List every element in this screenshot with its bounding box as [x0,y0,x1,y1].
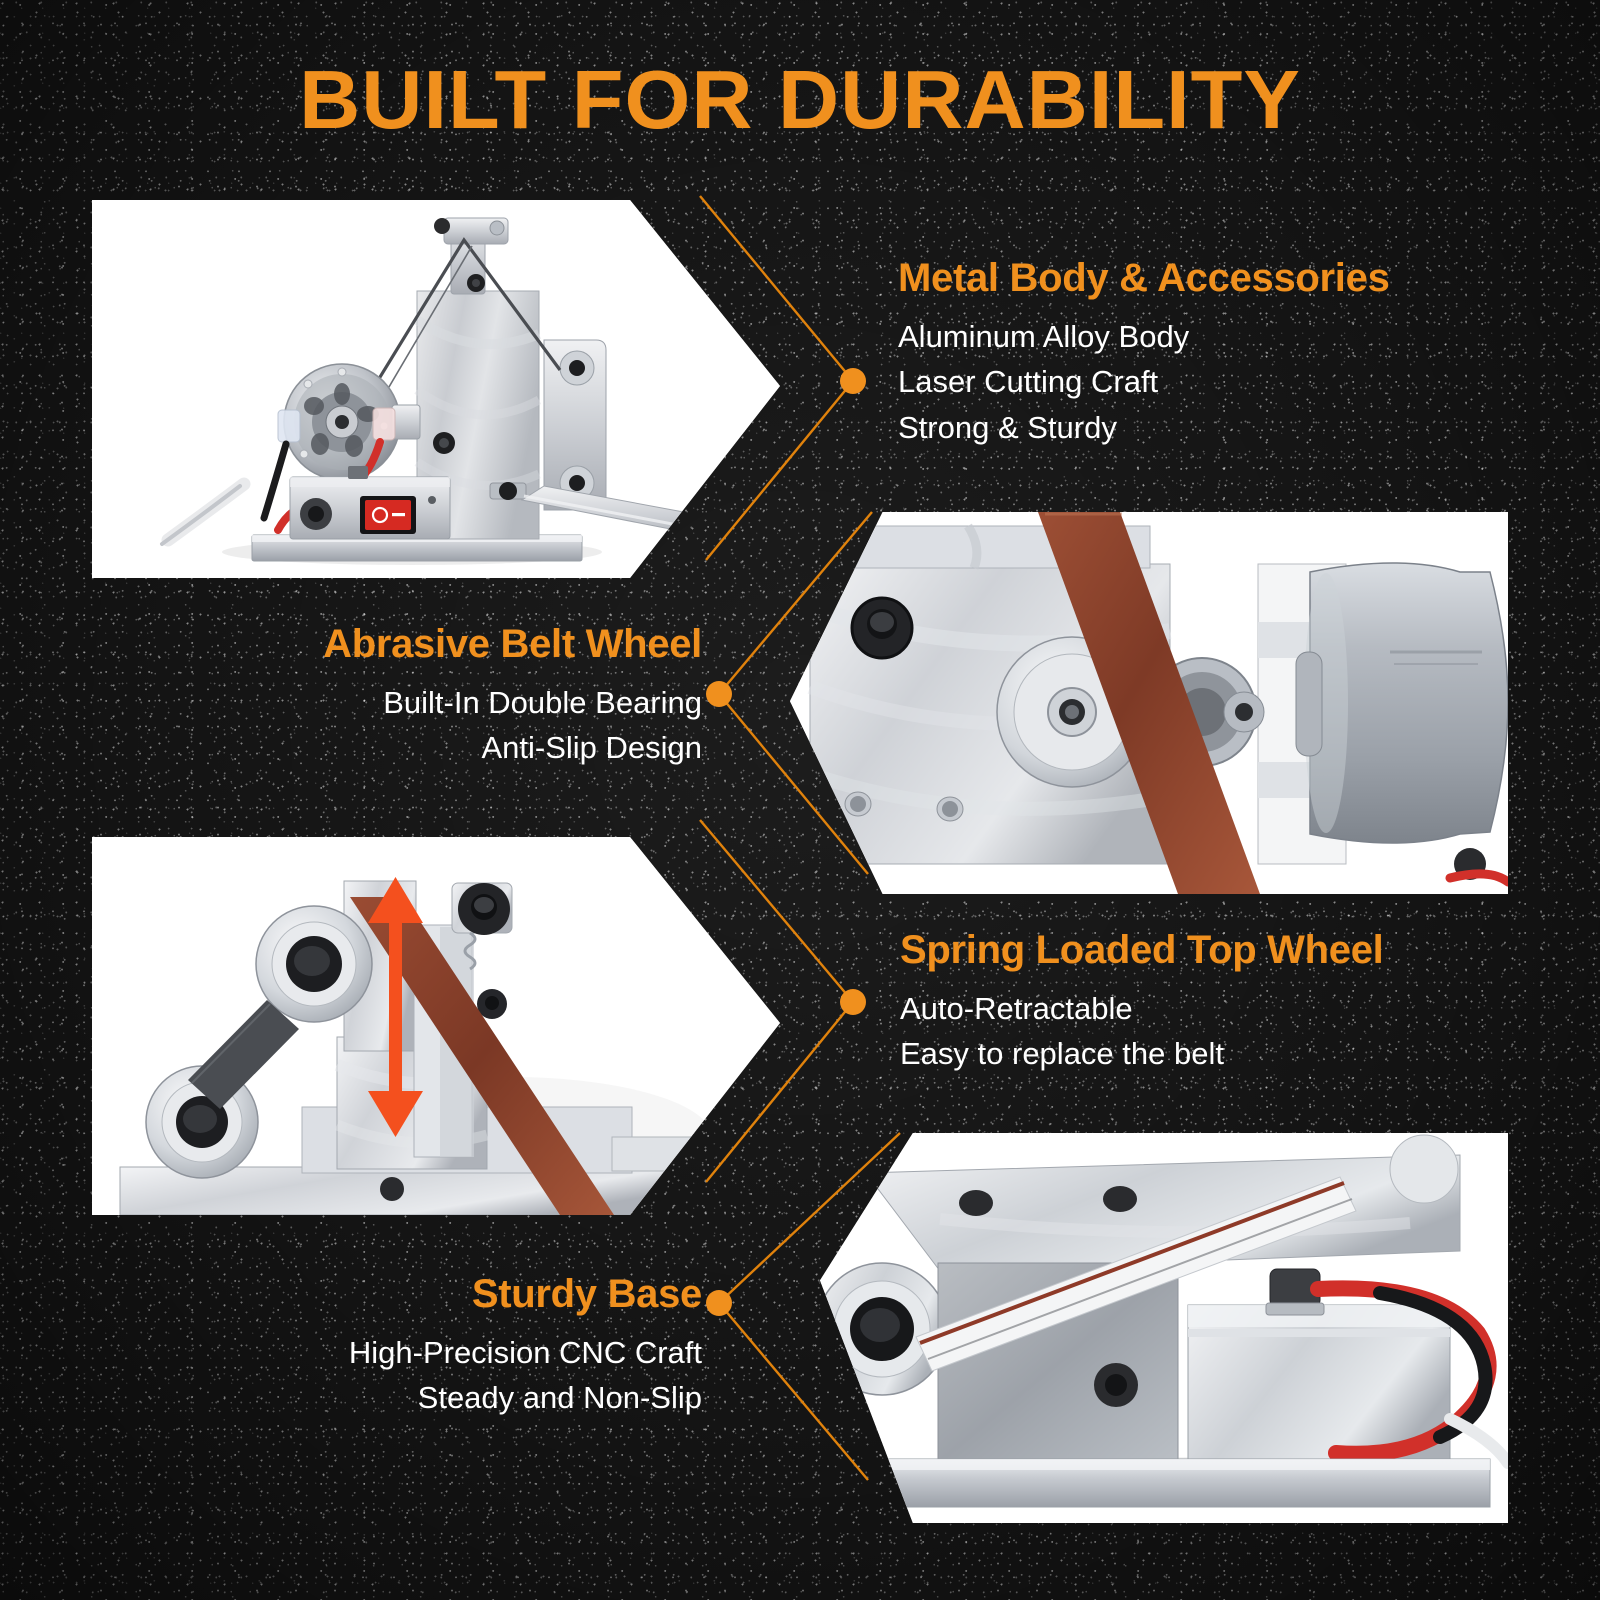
feature-text-abrasive-belt-wheel: Abrasive Belt Wheel Built-In Double Bear… [323,622,702,771]
product-photo-base [820,1133,1508,1523]
feature-bullets-spring-loaded-top-wheel: Auto-Retractable Easy to replace the bel… [900,986,1383,1077]
page-title: BUILT FOR DURABILITY [0,52,1600,148]
feature-text-spring-loaded-top-wheel: Spring Loaded Top Wheel Auto-Retractable… [900,928,1383,1077]
feature-bullet: Laser Cutting Craft [898,359,1390,405]
feature-bullet: Easy to replace the belt [900,1031,1383,1077]
feature-bullet: Strong & Sturdy [898,405,1390,451]
feature-bullet: Steady and Non-Slip [349,1375,702,1421]
feature-bullet: Aluminum Alloy Body [898,314,1390,360]
feature-bullet: High-Precision CNC Craft [349,1330,702,1376]
feature-bullets-abrasive-belt-wheel: Built-In Double Bearing Anti-Slip Design [323,680,702,771]
feature-bullets-metal-body: Aluminum Alloy Body Laser Cutting Craft … [898,314,1390,451]
feature-heading-spring-loaded-top-wheel: Spring Loaded Top Wheel [900,928,1383,973]
feature-text-metal-body: Metal Body & Accessories Aluminum Alloy … [898,256,1390,450]
feature-heading-sturdy-base: Sturdy Base [349,1272,702,1317]
feature-bullet: Built-In Double Bearing [323,680,702,726]
feature-bullet: Anti-Slip Design [323,725,702,771]
feature-photo-abrasive-belt-wheel [790,512,1508,894]
feature-photo-sturdy-base [820,1133,1508,1523]
feature-text-sturdy-base: Sturdy Base High-Precision CNC Craft Ste… [349,1272,702,1421]
feature-bullets-sturdy-base: High-Precision CNC Craft Steady and Non-… [349,1330,702,1421]
feature-heading-abrasive-belt-wheel: Abrasive Belt Wheel [323,622,702,667]
feature-heading-metal-body: Metal Body & Accessories [898,256,1390,301]
product-photo-belt-wheel [790,512,1508,894]
feature-bullet: Auto-Retractable [900,986,1383,1032]
